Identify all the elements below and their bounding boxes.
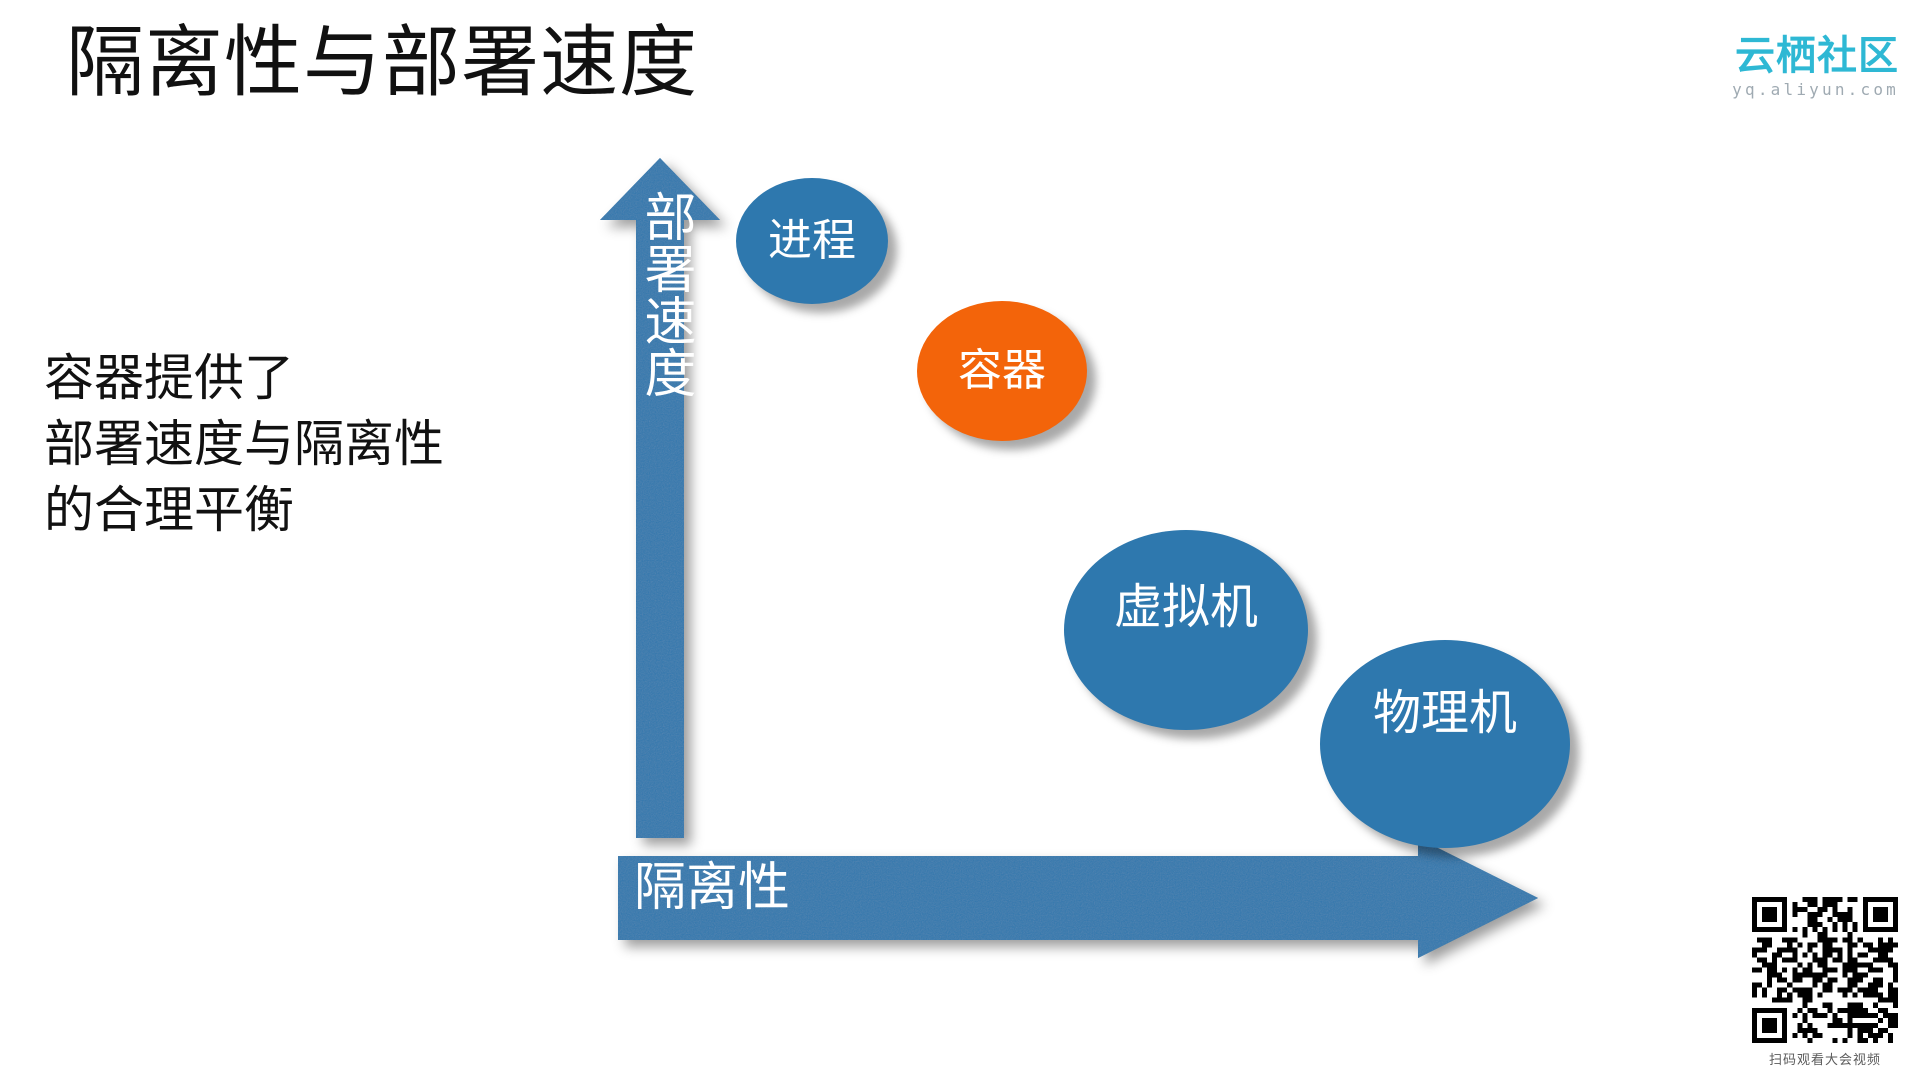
- node-virtual-machine-label: 虚拟机: [1114, 584, 1258, 632]
- qr-caption: 扫码观看大会视频: [1752, 1049, 1898, 1068]
- page-title: 隔离性与部署速度: [66, 20, 698, 106]
- node-process-label: 进程: [768, 219, 856, 263]
- brand-url: yq.aliyun.com: [1732, 80, 1899, 99]
- brand-logo: 云栖社区 yq.aliyun.com: [1732, 36, 1899, 99]
- horizontal-axis-label: 隔离性: [634, 862, 790, 914]
- qr-block: 扫码观看大会视频: [1752, 897, 1898, 1068]
- vertical-axis-label: 部署速度: [630, 190, 692, 398]
- brand-name: 云栖社区: [1732, 36, 1899, 76]
- qr-code-icon[interactable]: [1752, 897, 1898, 1043]
- node-physical-machine[interactable]: 物理机: [1320, 640, 1570, 848]
- node-container[interactable]: 容器: [917, 301, 1087, 441]
- node-physical-machine-label: 物理机: [1373, 690, 1517, 738]
- node-process[interactable]: 进程: [736, 178, 888, 304]
- lead-paragraph: 容器提供了 部署速度与隔离性 的合理平衡: [44, 345, 444, 543]
- node-container-label: 容器: [958, 349, 1046, 393]
- node-virtual-machine[interactable]: 虚拟机: [1064, 530, 1308, 730]
